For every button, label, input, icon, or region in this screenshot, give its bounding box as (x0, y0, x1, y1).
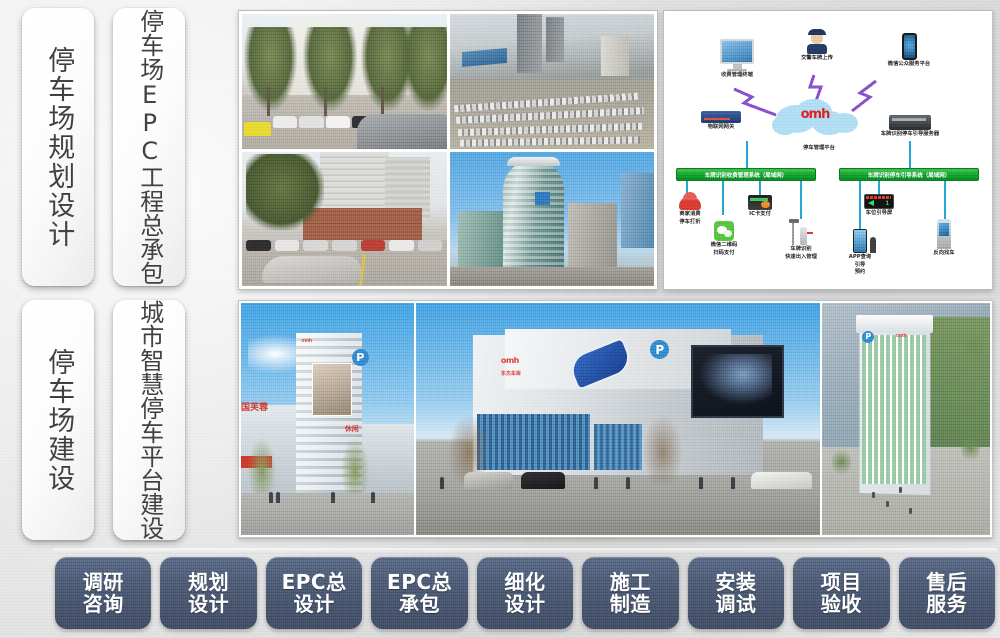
leaf-ic-card-payment: IC卡支付 (739, 195, 781, 218)
node-toll-management-terminal: 收费管理终端 (702, 39, 772, 79)
step-label-line2: 制造 (610, 593, 651, 615)
process-step-detailed-design[interactable]: 细化 设计 (477, 557, 573, 629)
leaf-lpr-fast-access: 车牌识别 快速出入管理 (776, 219, 826, 260)
leaf-label-line1: APP查询 (838, 254, 882, 261)
connector-line (909, 141, 911, 169)
node-wechat-public-platform: 微信公众服务平台 (869, 33, 949, 68)
sidebar-card-smart-parking-platform[interactable]: 城市智慧停车平台建设 (113, 300, 185, 540)
node-label: 车牌识别停车引导服务器 (862, 131, 958, 138)
render-green-glass-facade (862, 335, 926, 483)
photo-far-building (621, 173, 654, 248)
leaf-label-line1: 车牌识别 (776, 246, 826, 253)
rendering-panel: P omh 国芙蓉 休闲 P omh 东杰车库 (238, 300, 993, 538)
slide-canvas: 停车场规划设计 停车场EPC工程总承包 停车场建设 城市智慧停车平台建设 (0, 0, 1000, 638)
step-label-line1: 安装 (715, 571, 756, 593)
photo-side-building (568, 203, 617, 270)
led-arrow-icon (868, 200, 874, 206)
process-step-survey-consulting[interactable]: 调研 咨询 (55, 557, 151, 629)
process-step-epc-general-contract[interactable]: EPC总 承包 (371, 557, 467, 629)
render-pedestrian (899, 487, 902, 493)
parking-p-icon: P (352, 349, 369, 366)
node-label: 微信公众服务平台 (869, 61, 949, 68)
render-garage-front: P omh 东杰车库 (416, 303, 820, 535)
wechat-icon (714, 221, 734, 241)
photo-car (389, 240, 414, 251)
photo-car (332, 240, 357, 251)
render-tree (965, 331, 983, 361)
render-tree (945, 382, 963, 412)
render-pedestrian (909, 508, 912, 514)
render-billboard (312, 363, 352, 416)
leaf-app-query-guidance: APP查询 引导 预约 (838, 229, 882, 276)
photo-car (299, 116, 324, 128)
omh-brand-logo: omh (501, 356, 519, 365)
gate-arm-icon (807, 232, 813, 234)
step-label-line2: 设计 (294, 593, 335, 615)
sidebar-card-parking-epc-contract[interactable]: 停车场EPC工程总承包 (113, 8, 185, 286)
led-count-value: 1 (886, 201, 889, 207)
render-white-tower: P omh 国芙蓉 休闲 (241, 303, 414, 535)
photo-tree (246, 154, 324, 229)
gate-barrier-box-icon (800, 227, 807, 245)
render-tree (961, 433, 979, 463)
photo-car (326, 116, 351, 128)
step-label-line2: 承包 (399, 593, 440, 615)
render-pedestrian (276, 492, 280, 503)
sidebar-card-label: 停车场EPC工程总承包 (136, 9, 161, 285)
app-screen-icon (854, 230, 866, 252)
step-label-line1: EPC总 (387, 571, 452, 593)
leaf-reverse-car-finding: 反向找车 (922, 219, 966, 257)
photo-tower (546, 17, 564, 63)
photo-car (244, 122, 271, 137)
render-pedestrian (731, 477, 735, 489)
police-body-icon (807, 44, 827, 54)
leaf-label-line2: 扫码支付 (701, 250, 747, 257)
render-pedestrian (626, 477, 630, 489)
step-label-line1: 调研 (83, 571, 124, 593)
process-step-planning-design[interactable]: 规划 设计 (160, 557, 256, 629)
photo-side-building (458, 211, 503, 270)
photo-tree (303, 27, 356, 110)
omh-brand-logo: omh (302, 338, 313, 344)
photo-car (246, 240, 271, 251)
omh-brand-logo: omh (896, 333, 907, 339)
leaf-label-line1: 商家消费 (670, 211, 710, 218)
render-pedestrian (886, 501, 889, 507)
server-strip-icon (892, 118, 926, 121)
photo-car (275, 240, 300, 251)
render-street (241, 493, 414, 535)
photo-tree-trunk (381, 87, 384, 117)
leaf-label-line2: 快速出入管理 (776, 254, 826, 261)
leaf-wechat-qr-payment: 微信二维码 扫码支付 (701, 221, 747, 256)
render-pedestrian (269, 492, 273, 503)
render-pedestrian (872, 492, 875, 498)
node-lpr-guidance-server: 车牌识别停车引导服务器 (862, 115, 958, 138)
step-label-line2: 验收 (821, 593, 862, 615)
step-label-line2: 调试 (715, 593, 756, 615)
brand-name-zh: 东杰车库 (501, 370, 521, 377)
leaf-label: IC卡支付 (739, 211, 781, 218)
system-bar-lpr-toll: 车牌识别收费管理系统（局域网） (676, 168, 816, 181)
connector-line (944, 181, 946, 219)
render-tree (642, 414, 682, 484)
step-label-line2: 设计 (188, 593, 229, 615)
leaf-label: 车位引导屏 (858, 210, 900, 217)
step-label-line1: 售后 (926, 571, 967, 593)
leaf-label: 反向找车 (922, 250, 966, 257)
render-car (751, 472, 812, 488)
step-label-line2: 服务 (926, 593, 967, 615)
photo-tower (517, 14, 542, 73)
step-label-line2: 设计 (504, 593, 545, 615)
photo-car (303, 240, 328, 251)
render-road (416, 484, 820, 535)
server-icon (889, 115, 931, 130)
render-led-artwork (699, 354, 772, 405)
node-label: 物联网网关 (686, 124, 756, 131)
leaf-space-guidance-screen: 1 车位引导屏 (858, 194, 900, 217)
phone-screen-icon (904, 35, 915, 58)
led-guidance-screen-icon: 1 (864, 194, 894, 209)
sidebar-card-label: 停车场规划设计 (44, 46, 73, 249)
render-aerial-tower: P omh (822, 303, 990, 535)
connector-line (746, 141, 748, 169)
render-pedestrian (699, 477, 703, 489)
sidebar-card-label: 城市智慧停车平台建设 (136, 300, 161, 540)
photo-blue-roof (462, 48, 507, 67)
render-pedestrian (594, 477, 598, 489)
system-architecture-panel: 收费管理终端 交警车牌上传 微信公众服务平台 物联 (663, 10, 993, 290)
process-step-install-commission[interactable]: 安装 调试 (688, 557, 784, 629)
process-step-after-sales-service[interactable]: 售后 服务 (899, 557, 995, 629)
leaf-label-line1: 微信二维码 (701, 242, 747, 249)
photo-tower (601, 36, 630, 76)
node-label: 交警车牌上传 (782, 55, 852, 62)
leaf-label-line2: 引导 (838, 262, 882, 269)
photo-lot-trees (242, 14, 447, 149)
smartphone-icon (902, 33, 917, 60)
sidebar-card-label: 停车场建设 (44, 348, 73, 493)
node-traffic-police-upload: 交警车牌上传 (782, 29, 852, 62)
step-label-line1: 细化 (504, 571, 545, 593)
process-step-project-acceptance[interactable]: 项目 验收 (793, 557, 889, 629)
render-glass-facade (594, 424, 642, 470)
process-step-bar: 调研 咨询 规划 设计 EPC总 设计 EPC总 承包 细化 设计 施工 制造 … (55, 554, 995, 632)
process-step-construction-mfg[interactable]: 施工 制造 (582, 557, 678, 629)
photo-foreground-car (357, 114, 447, 149)
photo-blue-sign (535, 192, 549, 205)
render-pedestrian (440, 477, 444, 489)
connector-line (878, 181, 880, 195)
monitor-icon (720, 39, 754, 64)
render-tree (341, 438, 369, 498)
cloud-caption-label: 停车管理平台 (764, 145, 874, 152)
router-led-icon (704, 118, 730, 120)
kiosk-screen-icon (939, 223, 949, 236)
photo-car (361, 240, 386, 251)
cloud-platform-icon: omh (772, 99, 864, 141)
monitor-base-icon (727, 69, 747, 71)
step-label-line1: EPC总 (282, 571, 347, 593)
photo-road (450, 267, 655, 286)
photo-car (418, 240, 443, 251)
photo-glass-tower (450, 152, 655, 287)
connector-line (800, 181, 802, 219)
node-iot-gateway: 物联网网关 (686, 111, 756, 131)
photo-brick-lot (242, 152, 447, 287)
render-glass-facade (477, 414, 590, 470)
photo-grid-panel (238, 10, 658, 290)
red-car-icon (679, 197, 701, 210)
gate-camera-icon (789, 219, 799, 223)
photo-foreground-car (262, 256, 360, 283)
kiosk-icon (937, 219, 951, 249)
leaf-label-line3: 预约 (838, 269, 882, 276)
render-car (464, 472, 512, 488)
ic-card-icon (748, 195, 772, 210)
step-label-line2: 咨询 (83, 593, 124, 615)
step-label-line1: 项目 (821, 571, 862, 593)
render-sign-text: 国芙蓉 (241, 400, 268, 413)
person-icon (870, 237, 876, 253)
process-step-epc-general-design[interactable]: EPC总 设计 (266, 557, 362, 629)
photo-tree (244, 27, 297, 110)
render-car (521, 472, 565, 488)
node-label: 收费管理终端 (702, 72, 772, 79)
render-tree (248, 438, 276, 498)
render-tree (832, 447, 850, 477)
step-label-line1: 施工 (610, 571, 651, 593)
render-sign-text-2: 休闲 (345, 424, 359, 434)
barrier-gate-icon (789, 219, 813, 245)
photo-tree (402, 27, 447, 110)
sidebar-card-parking-construction[interactable]: 停车场建设 (22, 300, 94, 540)
connector-line (722, 181, 724, 215)
connector-line (759, 181, 761, 195)
photo-car (273, 116, 298, 128)
photo-tree-trunk (324, 87, 327, 117)
photo-aerial-lot (450, 14, 655, 149)
step-label-line1: 规划 (188, 571, 229, 593)
app-phone-icon (853, 229, 867, 253)
photo-tower-windows (503, 160, 564, 270)
sidebar-card-parking-planning-design[interactable]: 停车场规划设计 (22, 8, 94, 286)
police-head-icon (811, 35, 823, 44)
router-icon (701, 111, 741, 123)
led-top-row-icon (866, 196, 891, 199)
omh-brand-logo: omh (790, 107, 840, 122)
system-bar-lpr-guidance: 车牌识别停车引导系统（局域网） (839, 168, 979, 181)
photo-tower-cap (507, 157, 560, 166)
photo-tree-trunk (267, 87, 270, 117)
render-pedestrian (371, 492, 375, 503)
render-pedestrian (331, 492, 335, 503)
